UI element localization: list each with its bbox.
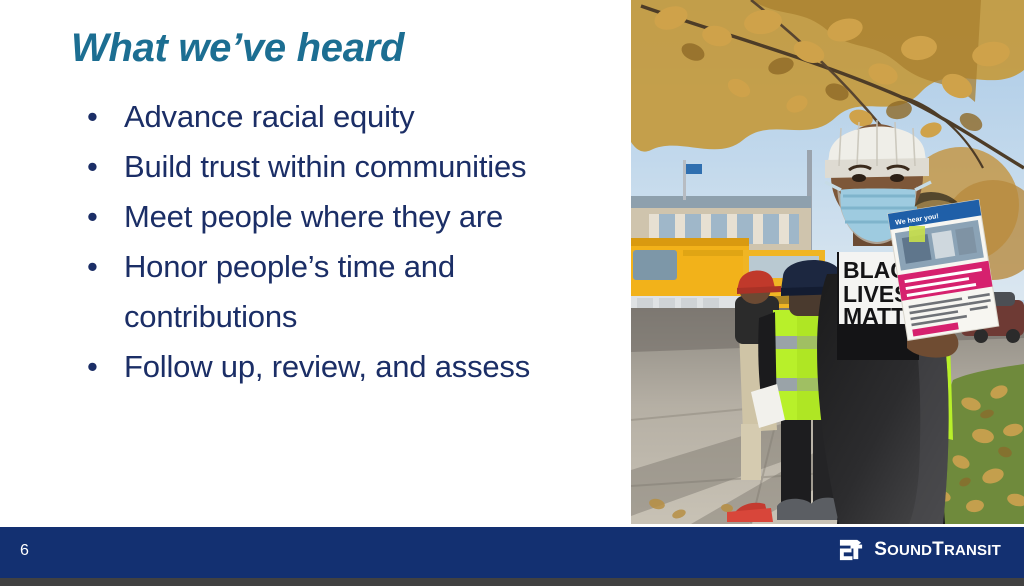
list-item: • Meet people where they are [78, 192, 623, 242]
page-number: 6 [20, 541, 29, 561]
slide-footer: 6 SOUNDTRANSIT [0, 527, 1024, 578]
brand-sound-cap: S [874, 539, 887, 561]
brand-transit-rest: RANSIT [944, 542, 1001, 559]
sound-transit-logo-icon [838, 536, 865, 563]
brand-sound-rest: OUND [887, 542, 932, 559]
list-item: • Build trust within communities [78, 142, 623, 192]
bullet-marker-icon: • [87, 192, 98, 242]
bullet-marker-icon: • [87, 342, 98, 392]
brand-name: SOUNDTRANSIT [874, 539, 1001, 561]
slide-content-area: What we’ve heard • Advance racial equity… [0, 0, 631, 527]
bullet-marker-icon: • [87, 92, 98, 142]
bullet-list: • Advance racial equity • Build trust wi… [78, 92, 623, 392]
list-item: • Follow up, review, and assess [78, 342, 623, 392]
brand-lockup: SOUNDTRANSIT [838, 536, 1001, 563]
list-item-label: Honor people’s time and contributions [124, 249, 455, 334]
presentation-slide: What we’ve heard • Advance racial equity… [0, 0, 1024, 586]
list-item-label: Follow up, review, and assess [124, 349, 530, 384]
bullet-marker-icon: • [87, 142, 98, 192]
list-item-label: Advance racial equity [124, 99, 414, 134]
bottom-edge-strip [0, 578, 1024, 586]
list-item: • Advance racial equity [78, 92, 623, 142]
brand-transit-cap: T [932, 539, 944, 561]
page-title: What we’ve heard [71, 26, 404, 71]
list-item-label: Build trust within communities [124, 149, 526, 184]
list-item-label: Meet people where they are [124, 199, 503, 234]
bullet-marker-icon: • [87, 242, 98, 292]
photo-illustration: BLACK LIVES MATTER [631, 0, 1024, 524]
slide-photo: BLACK LIVES MATTER [631, 0, 1024, 524]
list-item: • Honor people’s time and contributions [78, 242, 623, 342]
